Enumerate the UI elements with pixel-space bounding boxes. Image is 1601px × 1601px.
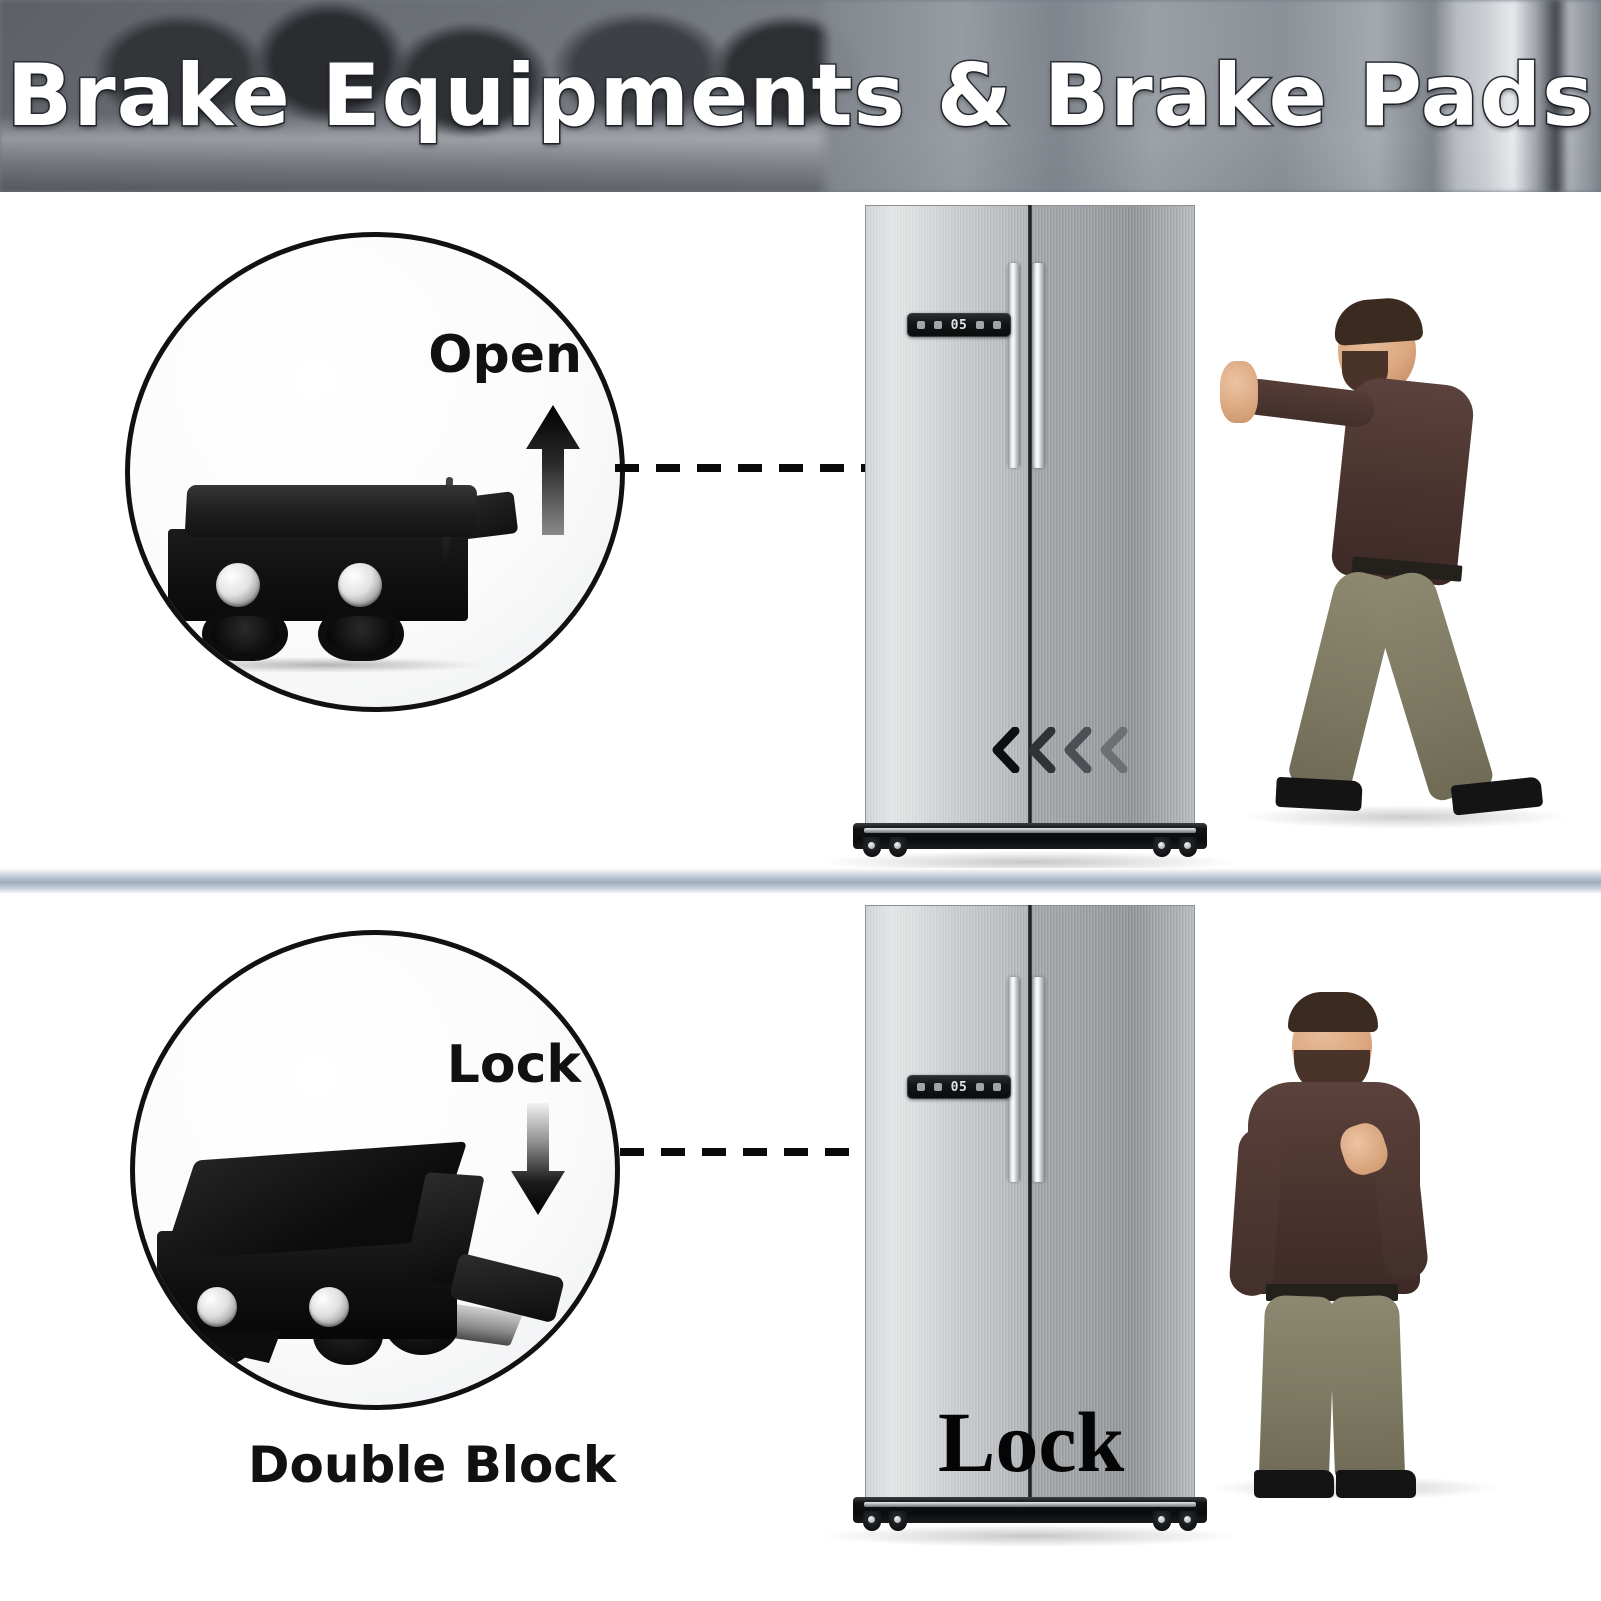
fridge-lock-overlay-text: Lock xyxy=(938,1392,1124,1492)
arrow-up-icon xyxy=(526,405,580,535)
motion-chevrons xyxy=(991,727,1129,773)
device-shadow xyxy=(158,657,488,673)
panel-divider xyxy=(0,868,1601,894)
fridge-handle-right[interactable] xyxy=(1032,977,1045,1182)
person-shoe-right xyxy=(1336,1470,1416,1498)
fridge-handle-left[interactable] xyxy=(1008,263,1020,468)
device-wheel xyxy=(318,607,404,661)
person-hair xyxy=(1333,296,1424,346)
device-rivet xyxy=(309,1287,349,1327)
person-shoe-left xyxy=(1254,1470,1334,1498)
device-body xyxy=(168,529,468,621)
fridge-roller-base xyxy=(853,823,1207,849)
snowflake-icon xyxy=(917,1083,925,1091)
device-rivet xyxy=(338,563,382,607)
display-temperature: 05 xyxy=(951,1080,968,1095)
brake-device-locked xyxy=(153,1135,553,1355)
person-shoe-front xyxy=(1275,777,1362,811)
person-leg-back xyxy=(1366,566,1496,803)
person-hair xyxy=(1288,992,1378,1032)
caption-double-block: Double Block xyxy=(248,1436,616,1494)
power-icon xyxy=(976,321,984,329)
fridge-control-display[interactable]: 05 xyxy=(907,1075,1011,1099)
device-rivet xyxy=(216,563,260,607)
chevron-left-icon xyxy=(1027,727,1057,773)
brake-device-open xyxy=(168,471,498,651)
fridge-handle-right[interactable] xyxy=(1032,263,1045,468)
callout-label-lock: Lock xyxy=(447,1035,581,1095)
fan-icon xyxy=(934,1083,942,1091)
fan-icon xyxy=(934,321,942,329)
device-wheel xyxy=(202,607,288,661)
chevron-left-icon xyxy=(1099,727,1129,773)
fridge-control-display[interactable]: 05 xyxy=(907,313,1011,337)
power-icon xyxy=(976,1083,984,1091)
wifi-icon xyxy=(993,1083,1001,1091)
person-leg-right xyxy=(1329,1295,1405,1483)
person-pushing xyxy=(1230,285,1575,830)
base-metal-strip xyxy=(864,1502,1197,1508)
page-title: Brake Equipments & Brake Pads xyxy=(0,0,1601,192)
chevron-left-icon xyxy=(991,727,1021,773)
device-rubber-pad xyxy=(185,485,478,537)
wifi-icon xyxy=(993,321,1001,329)
chevron-left-icon xyxy=(1063,727,1093,773)
callout-circle-open: Open xyxy=(125,232,625,712)
person-hand xyxy=(1220,361,1258,423)
callout-label-open: Open xyxy=(428,325,582,385)
refrigerator-open: 05 xyxy=(865,205,1195,830)
header-banner: Brake Equipments & Brake Pads xyxy=(0,0,1601,192)
person-leg-left xyxy=(1259,1295,1335,1483)
display-temperature: 05 xyxy=(951,318,968,333)
snowflake-icon xyxy=(917,321,925,329)
base-metal-strip xyxy=(864,828,1197,834)
infographic-page: Brake Equipments & Brake Pads Open xyxy=(0,0,1601,1601)
person-pointing xyxy=(1190,978,1520,1503)
device-rivet xyxy=(197,1287,237,1327)
fridge-shadow xyxy=(825,1525,1235,1547)
callout-circle-lock: Lock xyxy=(130,930,620,1410)
fridge-roller-base xyxy=(853,1497,1207,1523)
